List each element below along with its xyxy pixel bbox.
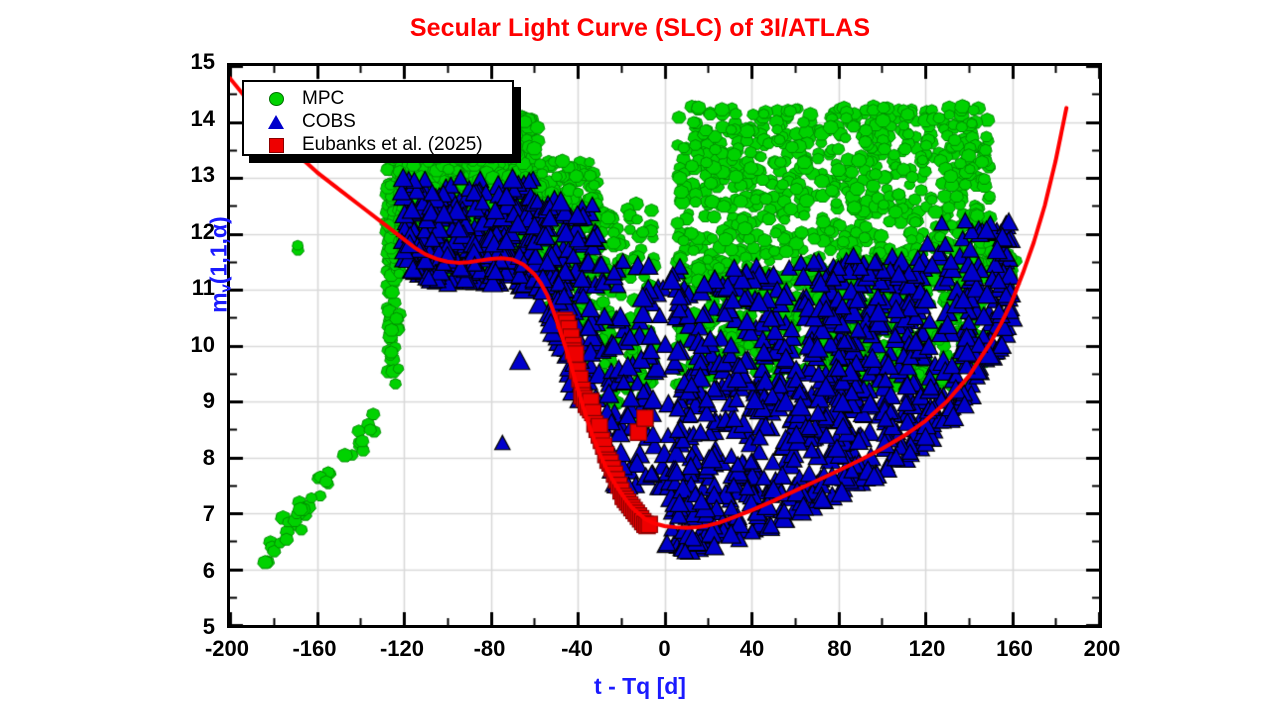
y-tick-label: 15 xyxy=(175,49,215,75)
chart-title: Secular Light Curve (SLC) of 3I/ATLAS xyxy=(0,14,1280,43)
y-axis-title-main: m xyxy=(205,292,231,312)
x-tick-label: 120 xyxy=(887,636,967,662)
y-tick-label: 9 xyxy=(175,388,215,414)
y-tick-label: 8 xyxy=(175,445,215,471)
y-axis-title-sub: v xyxy=(218,284,235,292)
x-axis-title: t - Tq [d] xyxy=(0,673,1280,700)
x-tick-label: -200 xyxy=(187,636,267,662)
legend-item-cobs[interactable]: COBS xyxy=(244,111,512,133)
legend-item-eubanks[interactable]: Eubanks et al. (2025) xyxy=(244,134,512,156)
legend-label-eubanks: Eubanks et al. (2025) xyxy=(302,134,483,156)
x-tick-label: 160 xyxy=(975,636,1055,662)
x-tick-label: 80 xyxy=(800,636,880,662)
x-tick-label: -40 xyxy=(537,636,617,662)
x-tick-label: -160 xyxy=(275,636,355,662)
x-tick-label: 200 xyxy=(1062,636,1142,662)
legend-label-mpc: MPC xyxy=(302,88,344,110)
x-tick-label: 0 xyxy=(625,636,705,662)
y-axis-title-rest: (1,1,α) xyxy=(205,216,231,284)
y-axis-title: mv(1,1,α) xyxy=(205,145,234,385)
y-tick-label: 6 xyxy=(175,558,215,584)
square-marker-icon xyxy=(258,138,294,153)
triangle-marker-icon xyxy=(258,115,294,129)
legend-label-cobs: COBS xyxy=(302,111,356,133)
y-tick-label: 7 xyxy=(175,501,215,527)
circle-marker-icon xyxy=(258,92,294,106)
slc-figure: Secular Light Curve (SLC) of 3I/ATLAS 56… xyxy=(0,0,1280,715)
legend-item-mpc[interactable]: MPC xyxy=(244,88,512,110)
x-tick-label: -120 xyxy=(362,636,442,662)
y-tick-label: 14 xyxy=(175,106,215,132)
legend: MPC COBS Eubanks et al. (2025) xyxy=(242,80,514,156)
x-tick-label: 40 xyxy=(712,636,792,662)
x-tick-label: -80 xyxy=(450,636,530,662)
